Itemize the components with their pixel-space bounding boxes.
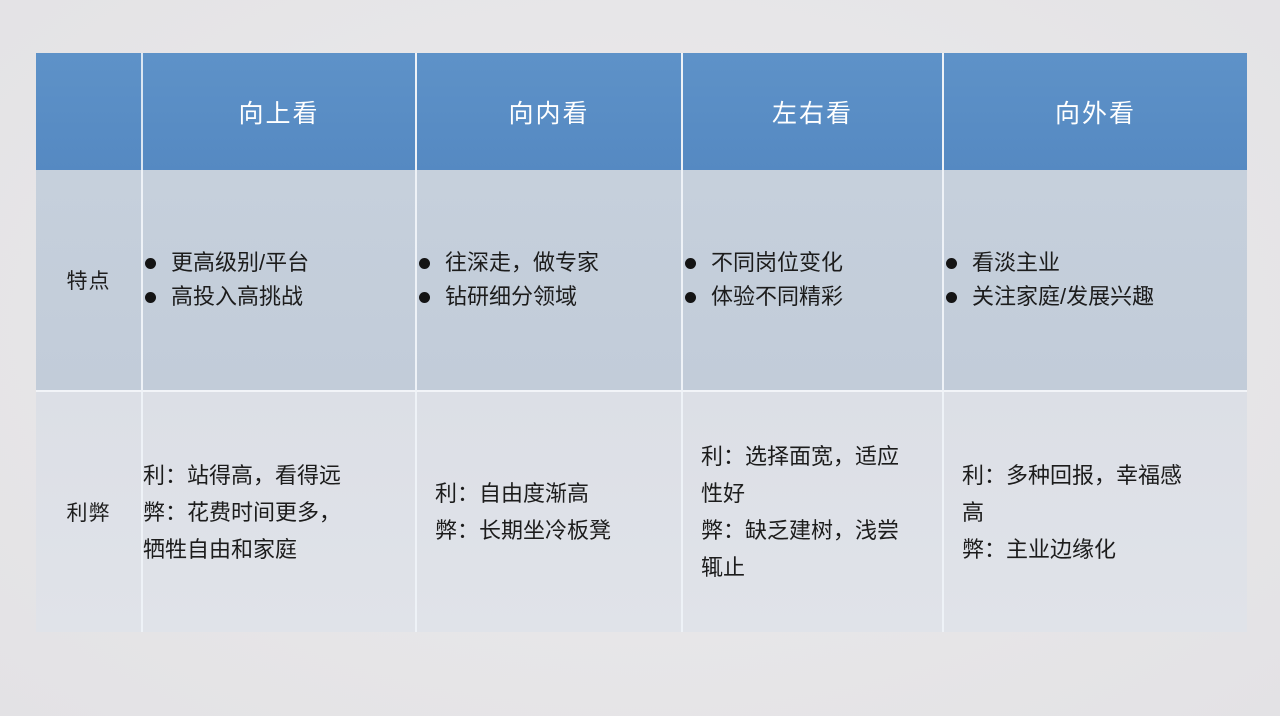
cell-features-out: 看淡主业 关注家庭/发展兴趣	[944, 170, 1247, 392]
list-item: 看淡主业	[944, 246, 1247, 280]
list-item: 往深走，做专家	[417, 246, 681, 280]
text-line: 辄止	[701, 549, 942, 586]
text-line: 性好	[701, 475, 942, 512]
bullet-list: 不同岗位变化 体验不同精彩	[683, 246, 942, 314]
list-item: 不同岗位变化	[683, 246, 942, 280]
text-line: 牺牲自由和家庭	[143, 531, 415, 568]
bullet-list: 看淡主业 关注家庭/发展兴趣	[944, 246, 1247, 314]
comparison-table-container: 向上看 向内看 左右看 向外看 特点 更高级别/平台 高投入高挑战 往深走，做	[36, 53, 1247, 632]
cell-pros-cons-in: 利：自由度渐高 弊：长期坐冷板凳	[417, 392, 683, 632]
text-line: 高	[962, 494, 1247, 531]
text-line: 弊：花费时间更多，	[143, 494, 415, 531]
cell-pros-cons-side: 利：选择面宽，适应 性好 弊：缺乏建树，浅尝 辄止	[683, 392, 944, 632]
pros-cons-text: 利：站得高，看得远 弊：花费时间更多， 牺牲自由和家庭	[143, 457, 415, 568]
text-line: 利：站得高，看得远	[143, 457, 415, 494]
list-item: 更高级别/平台	[143, 246, 415, 280]
row-label-pros-cons: 利弊	[36, 392, 143, 632]
text-line: 弊：主业边缘化	[962, 531, 1247, 568]
table-row-features: 特点 更高级别/平台 高投入高挑战 往深走，做专家 钻研细分领域 不同岗位	[36, 170, 1247, 392]
cell-features-side: 不同岗位变化 体验不同精彩	[683, 170, 944, 392]
column-header-in: 向内看	[417, 53, 683, 170]
table-header-row: 向上看 向内看 左右看 向外看	[36, 53, 1247, 170]
text-line: 弊：缺乏建树，浅尝	[701, 512, 942, 549]
career-direction-comparison-table: 向上看 向内看 左右看 向外看 特点 更高级别/平台 高投入高挑战 往深走，做	[36, 53, 1247, 632]
bullet-list: 更高级别/平台 高投入高挑战	[143, 246, 415, 314]
list-item: 高投入高挑战	[143, 280, 415, 314]
list-item: 钻研细分领域	[417, 280, 681, 314]
cell-features-in: 往深走，做专家 钻研细分领域	[417, 170, 683, 392]
text-line: 弊：长期坐冷板凳	[435, 512, 681, 549]
table-corner-cell	[36, 53, 143, 170]
list-item: 体验不同精彩	[683, 280, 942, 314]
cell-pros-cons-up: 利：站得高，看得远 弊：花费时间更多， 牺牲自由和家庭	[143, 392, 417, 632]
column-header-out: 向外看	[944, 53, 1247, 170]
pros-cons-text: 利：多种回报，幸福感 高 弊：主业边缘化	[962, 457, 1247, 568]
text-line: 利：选择面宽，适应	[701, 438, 942, 475]
table-row-pros-cons: 利弊 利：站得高，看得远 弊：花费时间更多， 牺牲自由和家庭 利：自由度渐高 弊…	[36, 392, 1247, 632]
bullet-list: 往深走，做专家 钻研细分领域	[417, 246, 681, 314]
row-label-features: 特点	[36, 170, 143, 392]
text-line: 利：自由度渐高	[435, 475, 681, 512]
column-header-up: 向上看	[143, 53, 417, 170]
column-header-side: 左右看	[683, 53, 944, 170]
text-line: 利：多种回报，幸福感	[962, 457, 1247, 494]
pros-cons-text: 利：选择面宽，适应 性好 弊：缺乏建树，浅尝 辄止	[701, 438, 942, 586]
list-item: 关注家庭/发展兴趣	[944, 280, 1247, 314]
cell-features-up: 更高级别/平台 高投入高挑战	[143, 170, 417, 392]
cell-pros-cons-out: 利：多种回报，幸福感 高 弊：主业边缘化	[944, 392, 1247, 632]
pros-cons-text: 利：自由度渐高 弊：长期坐冷板凳	[435, 475, 681, 549]
